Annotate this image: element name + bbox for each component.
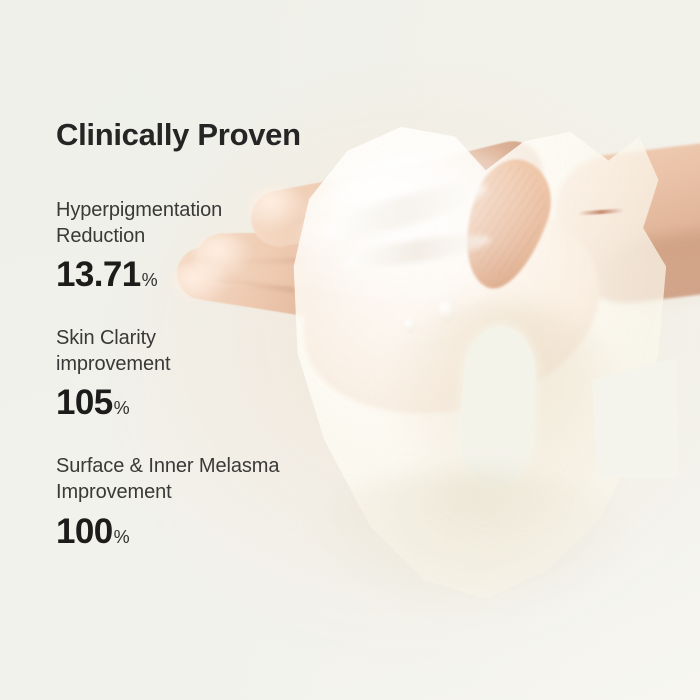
thumb-shape [449, 149, 564, 299]
stat-unit: % [142, 271, 158, 289]
stat-block-melasma: Surface & Inner Melasma Improvement 100 … [56, 454, 386, 548]
stat-unit: % [114, 528, 130, 546]
essence-droplet-2 [404, 318, 416, 333]
page-title: Clinically Proven [56, 0, 386, 152]
forearm-shadow [596, 226, 700, 314]
sheet-mask-warm-tint [380, 300, 620, 530]
stat-value: 13.71 [56, 257, 141, 292]
sheet-mask-side-notch [592, 358, 678, 478]
stat-label: Skin Clarity improvement [56, 326, 386, 377]
stat-label: Hyperpigmentation Reduction [56, 198, 386, 249]
stat-value-row: 100 % [56, 514, 386, 549]
sheet-mask-eye-slot [458, 324, 538, 488]
stat-value: 100 [56, 514, 113, 549]
stat-unit: % [114, 399, 130, 417]
stat-value-row: 13.71 % [56, 257, 386, 292]
claims-text-block: Clinically Proven Hyperpigmentation Redu… [56, 0, 386, 549]
stat-block-skin-clarity: Skin Clarity improvement 105 % [56, 326, 386, 420]
stat-block-hyperpigmentation: Hyperpigmentation Reduction 13.71 % [56, 198, 386, 292]
stat-value-row: 105 % [56, 385, 386, 420]
stat-label: Surface & Inner Melasma Improvement [56, 454, 386, 505]
forearm-shape [548, 139, 700, 311]
product-claim-banner: Clinically Proven Hyperpigmentation Redu… [0, 0, 700, 700]
thumb-skin-texture [456, 158, 556, 284]
fingernail-edge [578, 208, 624, 215]
stat-value: 105 [56, 385, 113, 420]
essence-droplet-1 [438, 300, 456, 322]
